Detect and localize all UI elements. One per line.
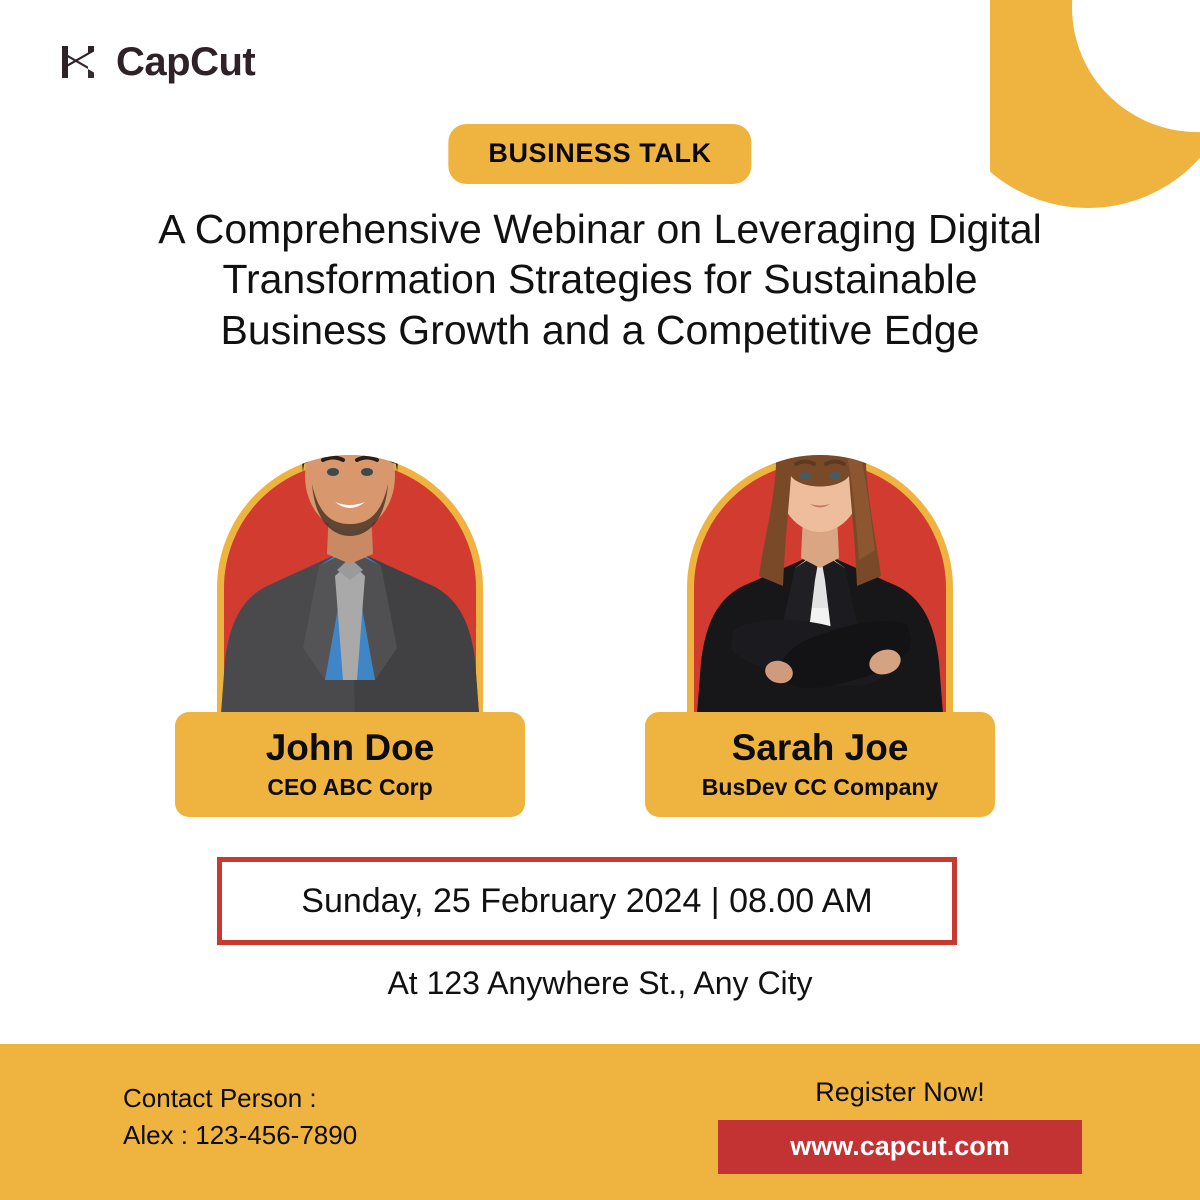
speaker-namecard: Sarah Joe BusDev CC Company [645,712,995,817]
register-label: Register Now! [718,1076,1082,1108]
speaker-photo-john-doe [175,380,525,740]
speaker-role: BusDev CC Company [655,774,985,802]
event-datetime: Sunday, 25 February 2024 | 08.00 AM [301,882,872,921]
speaker-role: CEO ABC Corp [185,774,515,802]
page-title: A Comprehensive Webinar on Leveraging Di… [0,204,1200,355]
contact-label: Contact Person : [123,1080,357,1117]
register-block: Register Now! www.capcut.com [718,1076,1082,1174]
capcut-logo-icon [58,40,102,84]
speakers-section: John Doe CEO ABC Corp [0,380,1200,830]
headline-line-3: Business Growth and a Competitive Edge [90,305,1110,355]
speaker-card-john-doe: John Doe CEO ABC Corp [175,380,525,830]
event-datetime-box: Sunday, 25 February 2024 | 08.00 AM [217,857,957,945]
business-talk-badge: BUSINESS TALK [448,124,751,184]
headline-line-2: Transformation Strategies for Sustainabl… [90,254,1110,304]
speaker-card-sarah-joe: Sarah Joe BusDev CC Company [645,380,995,830]
capcut-logo-text: CapCut [116,42,255,82]
speaker-name: John Doe [185,726,515,770]
footer-bar: Contact Person : Alex : 123-456-7890 Reg… [0,1044,1200,1200]
headline-line-1: A Comprehensive Webinar on Leveraging Di… [90,204,1110,254]
decoration-disc [990,0,1200,208]
event-venue: At 123 Anywhere St., Any City [0,965,1200,1002]
contact-block: Contact Person : Alex : 123-456-7890 [123,1080,357,1154]
capcut-logo: CapCut [58,40,255,84]
speaker-photo-sarah-joe [645,380,995,740]
register-url-button[interactable]: www.capcut.com [718,1120,1082,1174]
contact-value: Alex : 123-456-7890 [123,1117,357,1154]
speaker-name: Sarah Joe [655,726,985,770]
decoration-cutout [1072,0,1200,132]
webinar-poster: CapCut BUSINESS TALK A Comprehensive Web… [0,0,1200,1200]
speaker-namecard: John Doe CEO ABC Corp [175,712,525,817]
corner-crescent-decoration [990,0,1200,215]
